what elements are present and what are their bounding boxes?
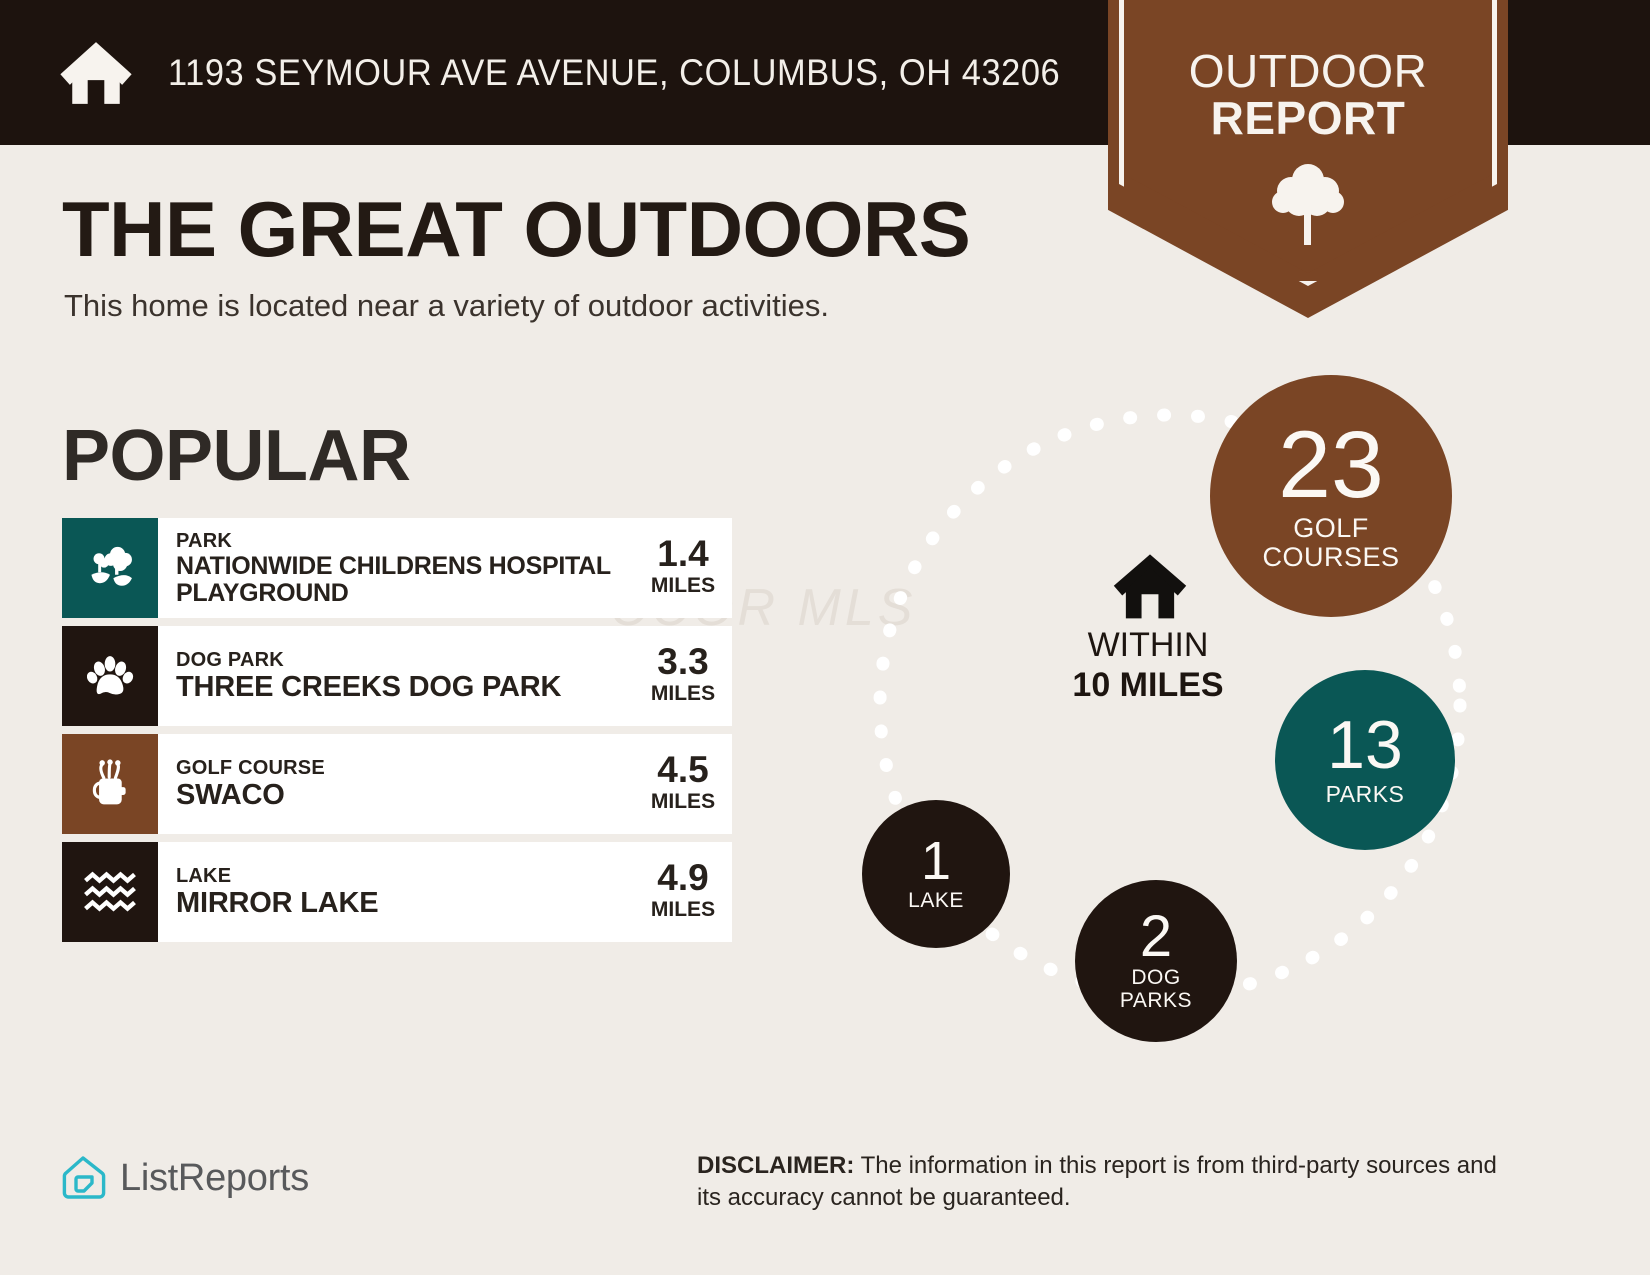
page-subtitle: This home is located near a variety of o…	[64, 288, 829, 324]
park-tree-icon	[62, 518, 158, 618]
distance-value: 4.9	[657, 859, 708, 896]
stat-label-line2: COURSES	[1262, 543, 1399, 572]
stat-count: 13	[1327, 713, 1403, 778]
list-item-name: MIRROR LAKE	[176, 888, 636, 918]
list-item-text: DOG PARK THREE CREEKS DOG PARK	[158, 626, 640, 726]
distance-value: 3.3	[657, 643, 708, 680]
stat-bubble-lake[interactable]: 1 LAKE	[862, 800, 1010, 948]
distance-unit: MILES	[651, 896, 715, 924]
paw-print-icon	[62, 626, 158, 726]
disclaimer-label: DISCLAIMER:	[697, 1152, 854, 1179]
outdoor-report-badge: OUTDOOR REPORT	[1108, 0, 1508, 318]
list-item-distance: 1.4 MILES	[640, 518, 732, 618]
proximity-diagram: WITHIN 10 MILES 23 GOLF COURSES 13 PARKS…	[820, 355, 1520, 1075]
tree-icon	[1267, 158, 1349, 250]
list-item-text: GOLF COURSE SWACO	[158, 734, 640, 834]
distance-value: 1.4	[657, 535, 708, 572]
distance-unit: MILES	[651, 572, 715, 600]
badge-title-line2: REPORT	[1108, 95, 1508, 142]
list-item-distance: 3.3 MILES	[640, 626, 732, 726]
within-distance-label: WITHIN 10 MILES	[1028, 625, 1268, 705]
list-item-category: LAKE	[176, 865, 636, 888]
disclaimer: DISCLAIMER: The information in this repo…	[697, 1150, 1527, 1213]
popular-list: PARK NATIONWIDE CHILDRENS HOSPITAL PLAYG…	[62, 518, 732, 950]
stat-label-line1: LAKE	[908, 890, 964, 913]
within-label-line1: WITHIN	[1028, 625, 1268, 665]
property-address: 1193 SEYMOUR AVE AVENUE, COLUMBUS, OH 43…	[168, 52, 1060, 94]
stat-count: 23	[1278, 420, 1384, 510]
stat-bubble-golf-courses[interactable]: 23 GOLF COURSES	[1210, 375, 1452, 617]
distance-unit: MILES	[651, 680, 715, 708]
list-item-name: NATIONWIDE CHILDRENS HOSPITAL PLAYGROUND	[176, 553, 636, 606]
list-item-name: THREE CREEKS DOG PARK	[176, 672, 636, 702]
stat-label-line2: PARKS	[1120, 990, 1192, 1013]
home-icon	[58, 35, 134, 111]
water-waves-icon	[62, 842, 158, 942]
home-icon	[1111, 552, 1189, 622]
stat-bubble-parks[interactable]: 13 PARKS	[1275, 670, 1455, 850]
stat-label-line1: GOLF	[1293, 514, 1369, 543]
stat-bubble-dog-parks[interactable]: 2 DOG PARKS	[1075, 880, 1237, 1042]
listreports-logo[interactable]: ListReports	[62, 1155, 309, 1201]
list-item-text: PARK NATIONWIDE CHILDRENS HOSPITAL PLAYG…	[158, 518, 640, 618]
golf-bag-icon	[62, 734, 158, 834]
list-item-category: DOG PARK	[176, 649, 636, 672]
list-item[interactable]: DOG PARK THREE CREEKS DOG PARK 3.3 MILES	[62, 626, 732, 726]
list-item-category: GOLF COURSE	[176, 757, 636, 780]
page-title: THE GREAT OUTDOORS	[62, 190, 970, 268]
list-item-distance: 4.9 MILES	[640, 842, 732, 942]
listreports-house-icon	[62, 1155, 106, 1201]
list-item-distance: 4.5 MILES	[640, 734, 732, 834]
distance-value: 4.5	[657, 751, 708, 788]
stat-count: 2	[1140, 909, 1172, 964]
list-item-text: LAKE MIRROR LAKE	[158, 842, 640, 942]
stat-count: 1	[921, 836, 951, 887]
distance-unit: MILES	[651, 788, 715, 816]
stat-label-line1: PARKS	[1326, 782, 1405, 807]
within-label-line2: 10 MILES	[1028, 665, 1268, 705]
list-item[interactable]: GOLF COURSE SWACO 4.5 MILES	[62, 734, 732, 834]
list-item-name: SWACO	[176, 780, 636, 810]
badge-title-line1: OUTDOOR	[1108, 48, 1508, 95]
badge-title: OUTDOOR REPORT	[1108, 48, 1508, 142]
stat-label-line1: DOG	[1131, 967, 1180, 990]
listreports-logo-text: ListReports	[120, 1157, 309, 1200]
list-item[interactable]: LAKE MIRROR LAKE 4.9 MILES	[62, 842, 732, 942]
list-item-category: PARK	[176, 530, 636, 553]
list-item[interactable]: PARK NATIONWIDE CHILDRENS HOSPITAL PLAYG…	[62, 518, 732, 618]
section-heading-popular: POPULAR	[62, 415, 411, 497]
